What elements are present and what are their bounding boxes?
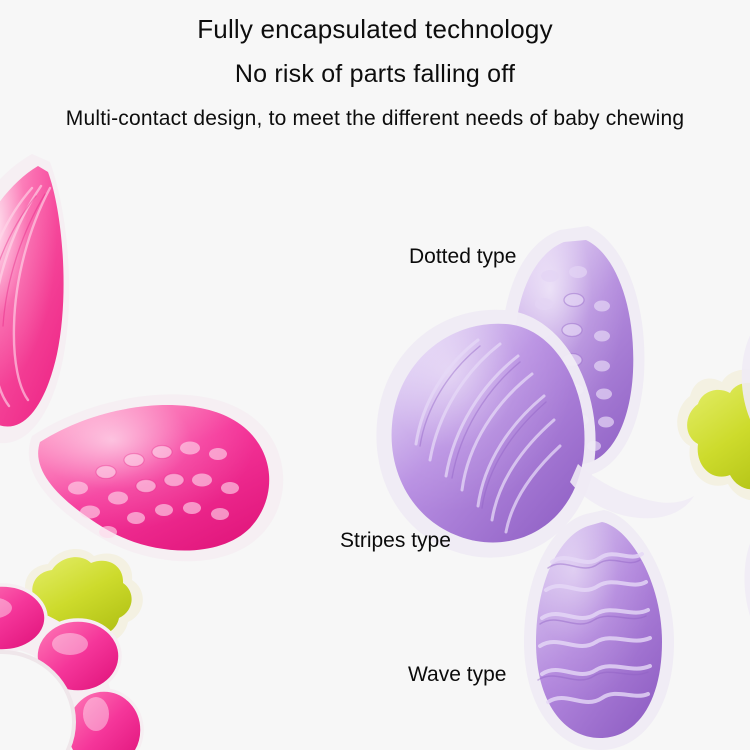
callout-dotted-type: Dotted type [409, 245, 516, 269]
headline-primary: Fully encapsulated technology [0, 14, 750, 45]
product-image-canvas: Fully encapsulated technology No risk of… [0, 0, 750, 750]
callout-stripes-type: Stripes type [340, 529, 451, 553]
pink-teether-image [0, 136, 302, 736]
headline-tertiary: Multi-contact design, to meet the differ… [0, 107, 750, 131]
callout-wave-type: Wave type [408, 663, 506, 687]
headline-secondary: No risk of parts falling off [0, 60, 750, 89]
